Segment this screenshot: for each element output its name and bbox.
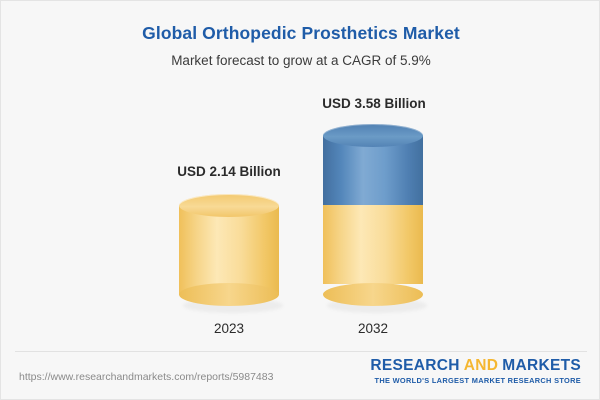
cylinder-body-2023-gold: [179, 205, 279, 295]
logo-word-and: AND: [460, 357, 502, 374]
chart-plot-area: USD 2.14 Billion 2023 USD 3.58 Billion 2…: [1, 1, 600, 351]
value-label-2032: USD 3.58 Billion: [274, 96, 474, 111]
logo-wordmark: RESEARCHANDMARKETS: [370, 358, 581, 374]
cylinder-body-2032-gold: [323, 202, 423, 284]
chart-card: Global Orthopedic Prosthetics Market Mar…: [0, 0, 600, 400]
cylinder-top-2032: [323, 124, 423, 147]
value-label-2023: USD 2.14 Billion: [129, 164, 329, 179]
logo-word-markets: MARKETS: [502, 357, 581, 374]
footer-divider: [15, 351, 587, 352]
report-url[interactable]: https://www.researchandmarkets.com/repor…: [19, 371, 273, 383]
bar-cylinder-2032: [323, 124, 423, 306]
brand-logo[interactable]: RESEARCHANDMARKETS THE WORLD'S LARGEST M…: [370, 358, 581, 386]
cylinder-bottom-2032: [323, 283, 423, 306]
bar-cylinder-2023: [179, 194, 279, 306]
category-label-2032: 2032: [273, 321, 473, 336]
logo-tagline: THE WORLD'S LARGEST MARKET RESEARCH STOR…: [370, 376, 581, 386]
logo-word-research: RESEARCH: [370, 357, 459, 374]
cylinder-bottom-2023: [179, 283, 279, 306]
cylinder-top-2023: [179, 194, 279, 217]
